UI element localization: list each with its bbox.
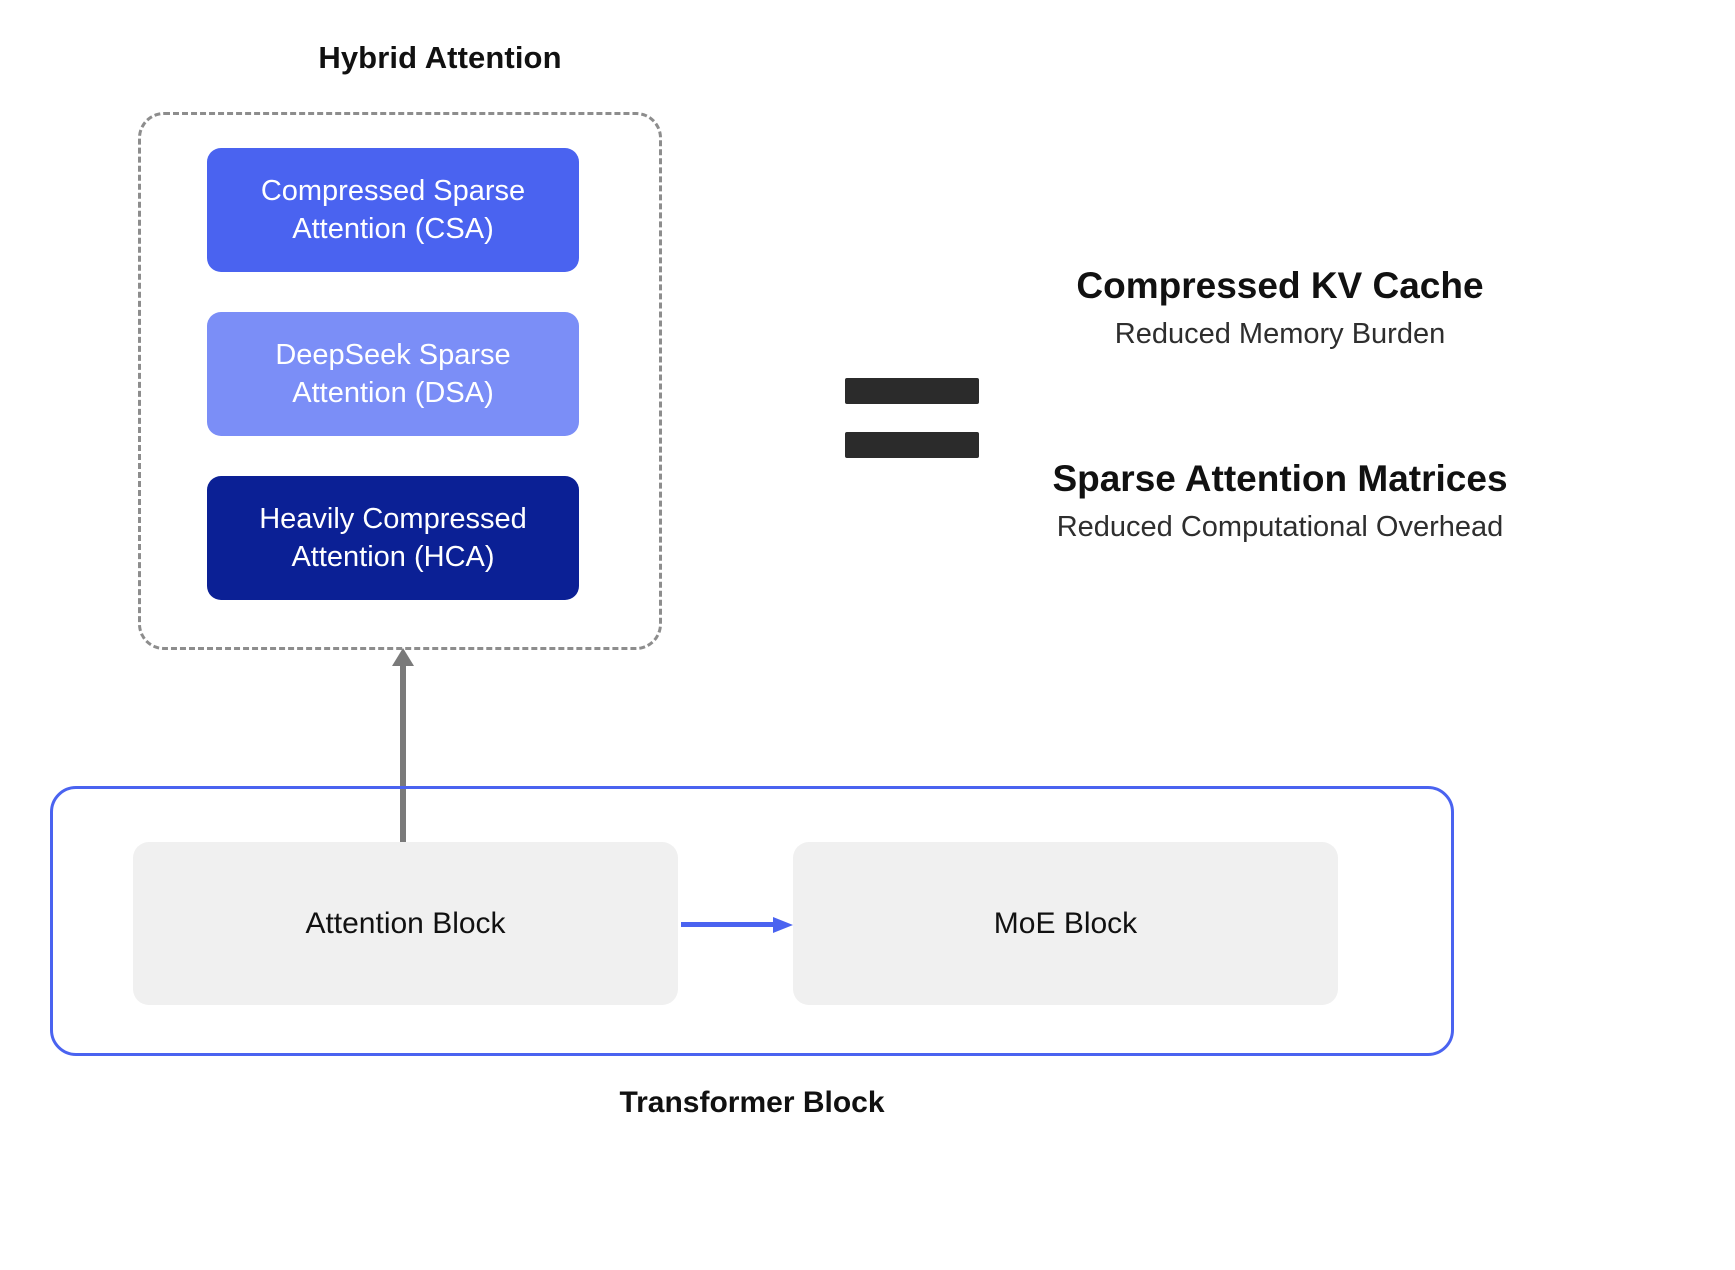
equals-bar-bottom <box>845 432 979 458</box>
arrow-right-icon <box>681 917 793 933</box>
moe-block[interactable]: MoE Block <box>793 842 1338 1005</box>
hybrid-attention-group: Compressed Sparse Attention (CSA) DeepSe… <box>138 112 662 650</box>
benefit-subtitle-sparse-matrices: Reduced Computational Overhead <box>980 508 1580 547</box>
benefit-subtitle-kv-cache: Reduced Memory Burden <box>980 315 1580 354</box>
benefits-list: Compressed KV Cache Reduced Memory Burde… <box>980 262 1580 547</box>
attention-box-dsa[interactable]: DeepSeek Sparse Attention (DSA) <box>207 312 579 436</box>
benefit-title-kv-cache: Compressed KV Cache <box>980 262 1580 309</box>
hybrid-attention-title: Hybrid Attention <box>140 40 740 76</box>
arrow-right-head <box>773 917 793 933</box>
equals-bar-top <box>845 378 979 404</box>
arrow-right-shaft <box>681 922 775 927</box>
transformer-block-label: Transformer Block <box>50 1086 1454 1120</box>
attention-block[interactable]: Attention Block <box>133 842 678 1005</box>
attention-box-hca[interactable]: Heavily Compressed Attention (HCA) <box>207 476 579 600</box>
attention-box-csa[interactable]: Compressed Sparse Attention (CSA) <box>207 148 579 272</box>
benefit-item-kv-cache: Compressed KV Cache Reduced Memory Burde… <box>980 262 1580 355</box>
benefit-item-sparse-matrices: Sparse Attention Matrices Reduced Comput… <box>980 455 1580 548</box>
equals-icon <box>845 378 979 458</box>
transformer-block-container: Attention Block MoE Block <box>50 786 1454 1056</box>
benefit-title-sparse-matrices: Sparse Attention Matrices <box>980 455 1580 502</box>
